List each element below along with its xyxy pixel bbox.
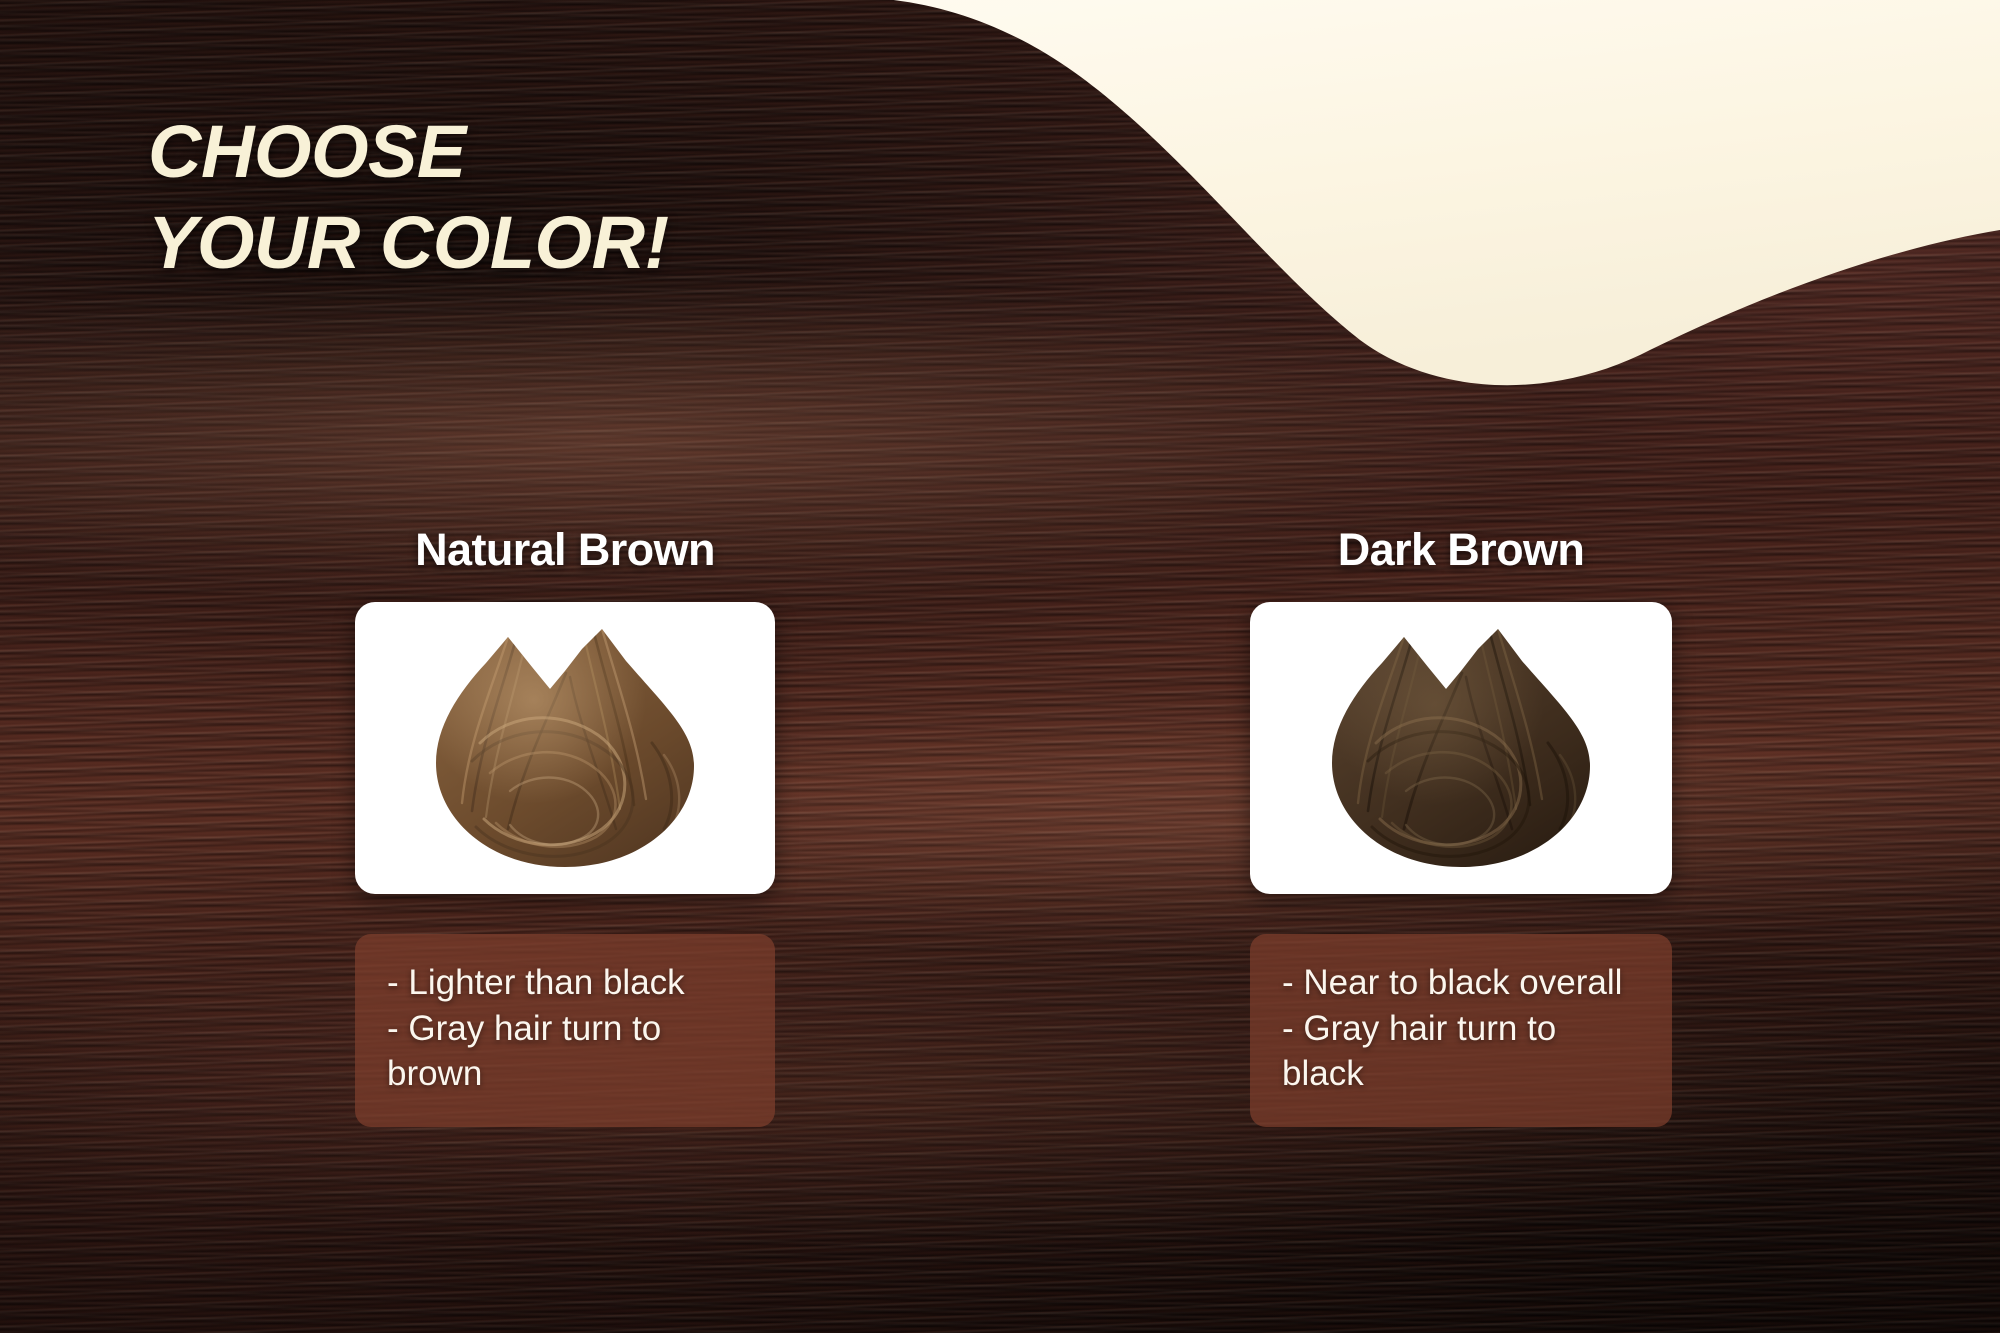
poster-canvas: CHOOSE YOUR COLOR! Natural Brown — [0, 0, 2000, 1333]
swatch-title-dark-brown: Dark Brown — [1250, 524, 1672, 576]
dark-brown-hair-swatch-icon — [1316, 623, 1606, 873]
color-option-dark-brown[interactable]: Dark Brown — [1250, 524, 1672, 1127]
swatch-description-natural-brown: - Lighter than black - Gray hair turn to… — [355, 934, 775, 1127]
color-option-natural-brown[interactable]: Natural Brown — [355, 524, 775, 1127]
page-title: CHOOSE YOUR COLOR! — [148, 106, 669, 288]
swatch-card-dark-brown[interactable] — [1250, 602, 1672, 894]
swatch-card-natural-brown[interactable] — [355, 602, 775, 894]
swatch-title-natural-brown: Natural Brown — [355, 524, 775, 576]
natural-brown-hair-swatch-icon — [420, 623, 710, 873]
swatch-description-dark-brown: - Near to black overall - Gray hair turn… — [1250, 934, 1672, 1127]
cream-curve-shape — [740, 0, 2000, 420]
